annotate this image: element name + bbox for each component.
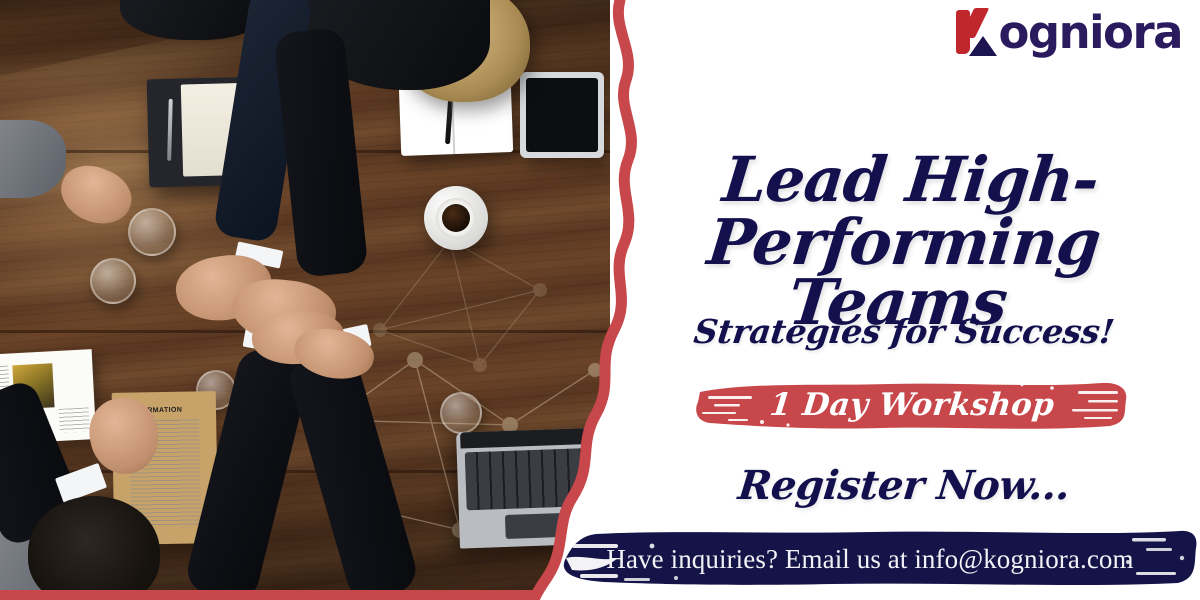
person-dark-head	[28, 496, 160, 600]
event-promo-banner: INFORMATION	[0, 0, 1200, 600]
workshop-badge-label: 1 Day Workshop	[689, 376, 1135, 434]
subtitle: Strategies for Success!	[606, 312, 1200, 351]
page-title: Lead High- Performing Teams	[598, 150, 1200, 332]
cup-interior	[436, 198, 476, 238]
water-glass	[440, 392, 482, 434]
magazine-text-lines	[59, 407, 90, 433]
brand-logo[interactable]: ogniora	[954, 6, 1182, 58]
tablet-screen	[526, 78, 598, 152]
tablet-device	[520, 72, 604, 158]
contact-info-text: Have inquiries? Email us at info@kognior…	[540, 528, 1200, 590]
hero-photo: INFORMATION	[0, 0, 610, 600]
logo-navy-triangle	[969, 36, 997, 56]
water-glass	[128, 208, 176, 256]
laptop-keyboard	[465, 448, 601, 511]
brand-wordmark: ogniora	[998, 10, 1182, 55]
silver-pen	[167, 99, 173, 161]
coffee-cup	[424, 186, 488, 250]
content-panel: ogniora Lead High- Performing Teams Stra…	[600, 0, 1200, 600]
k-logo-mark-icon	[954, 6, 1000, 58]
coffee-liquid	[442, 204, 470, 232]
bottom-red-strip	[0, 590, 610, 600]
cta-text[interactable]: Register Now...	[606, 462, 1200, 509]
water-glass	[90, 258, 136, 304]
